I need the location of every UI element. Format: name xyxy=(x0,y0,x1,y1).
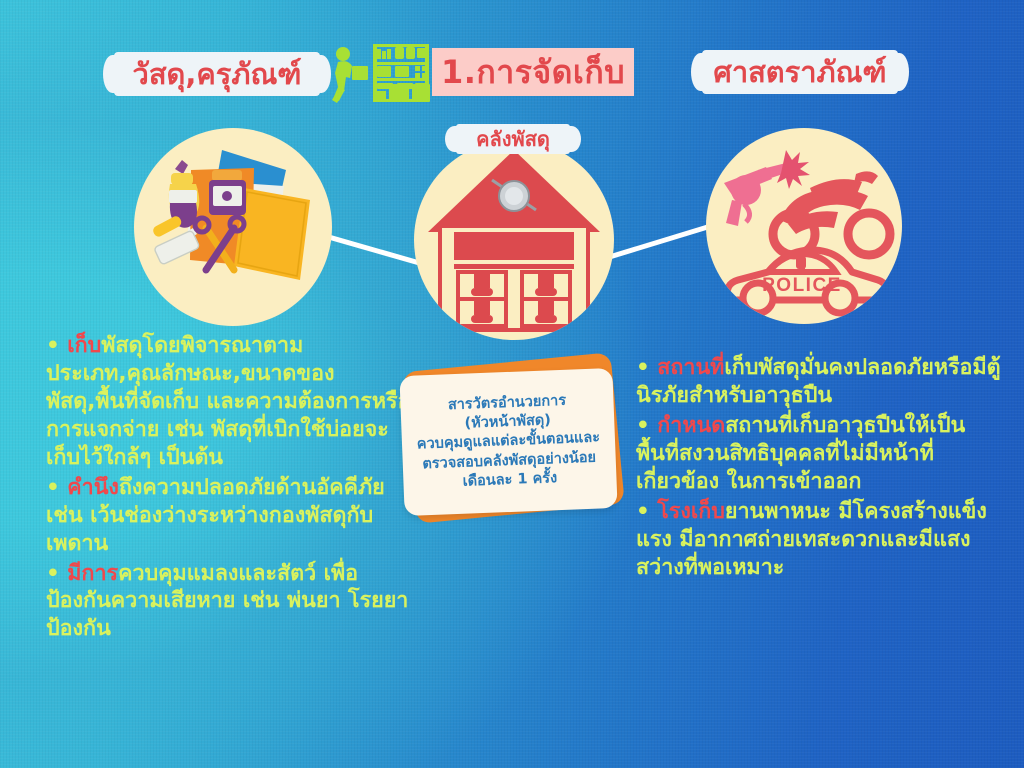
banner-materials-label: วัสดุ,ครุภัณฑ์ xyxy=(133,51,302,97)
banner-materials: วัสดุ,ครุภัณฑ์ xyxy=(114,52,320,96)
banner-armory-label: ศาสตราภัณฑ์ xyxy=(713,49,886,95)
card-line: เดือนละ 1 ครั้ง xyxy=(462,470,557,490)
bullet-lead: สถานที่ xyxy=(657,355,724,380)
banner-step-label: 1.การจัดเก็บ xyxy=(441,47,625,98)
banner-armory: ศาสตราภัณฑ์ xyxy=(702,50,898,94)
bullet-lead: โรงเก็บ xyxy=(657,499,725,524)
connector-line-right xyxy=(597,220,723,263)
warehouse-worker-shelf-icon xyxy=(327,42,435,104)
bullet-marker: • xyxy=(636,413,650,438)
list-item: • มีการควบคุมแมลงและสัตว์ เพื่อป้องกันคว… xyxy=(46,560,412,644)
bullet-lead: กำหนด xyxy=(657,413,725,438)
bullet-marker: • xyxy=(46,475,60,500)
bullet-lead: เก็บ xyxy=(67,333,101,358)
list-item: • สถานที่เก็บพัสดุมั่นคงปลอดภัยหรือมีตู้… xyxy=(636,354,1004,410)
warehouse-illustration-circle xyxy=(414,140,614,340)
center-note-card: สารวัตรอำนวยการ (หัวหน้าพัสดุ) ควบคุมดูแ… xyxy=(399,368,617,516)
weapons-vehicles-illustration: POLICE xyxy=(706,128,902,324)
warehouse-building-icon xyxy=(414,140,614,340)
banner-step-title: 1.การจัดเก็บ xyxy=(432,48,634,96)
ink-jar-icon xyxy=(209,170,246,215)
card-line: ตรวจสอบคลังพัสดุอย่างน้อย xyxy=(422,449,596,472)
list-item: • คำนึงถึงความปลอดภัยด้านอัคคีภัย เช่น เ… xyxy=(46,474,412,558)
bullet-marker: • xyxy=(636,355,650,380)
list-item: • กำหนดสถานที่เก็บอาวุธปืนให้เป็นพื้นที่… xyxy=(636,412,1004,496)
banner-warehouse-label: คลังพัสดุ xyxy=(476,123,550,155)
bullet-lead: คำนึง xyxy=(67,475,119,500)
bullet-lead: มีการ xyxy=(67,561,118,586)
list-item: • เก็บพัสดุโดยพิจารณาตามประเภท,คุณลักษณะ… xyxy=(46,332,412,472)
armory-illustration-circle: POLICE xyxy=(706,128,902,324)
bullet-marker: • xyxy=(636,499,650,524)
left-text-column: • เก็บพัสดุโดยพิจารณาตามประเภท,คุณลักษณะ… xyxy=(46,332,412,645)
center-note-card-text: สารวัตรอำนวยการ (หัวหน้าพัสดุ) ควบคุมดูแ… xyxy=(407,390,610,493)
right-text-column: • สถานที่เก็บพัสดุมั่นคงปลอดภัยหรือมีตู้… xyxy=(636,354,1004,584)
bullet-rest: พัสดุโดยพิจารณาตามประเภท,คุณลักษณะ,ขนาดข… xyxy=(46,333,410,470)
police-car-icon: POLICE xyxy=(727,250,888,313)
card-line: (หัวหน้าพัสดุ) xyxy=(464,413,551,432)
card-line: สารวัตรอำนวยการ xyxy=(448,393,567,414)
bullet-marker: • xyxy=(46,561,60,586)
infographic-canvas: POLICE วัสดุ,ครุภัณฑ์ xyxy=(0,0,1024,768)
list-item: • โรงเก็บยานพาหนะ มีโครงสร้างแข็งแรง มีอ… xyxy=(636,498,1004,582)
materials-illustration-circle xyxy=(134,128,332,326)
stationery-supplies-illustration xyxy=(134,128,332,326)
police-car-label: POLICE xyxy=(762,275,842,296)
banner-warehouse: คลังพัสดุ xyxy=(456,124,570,154)
bullet-marker: • xyxy=(46,333,60,358)
